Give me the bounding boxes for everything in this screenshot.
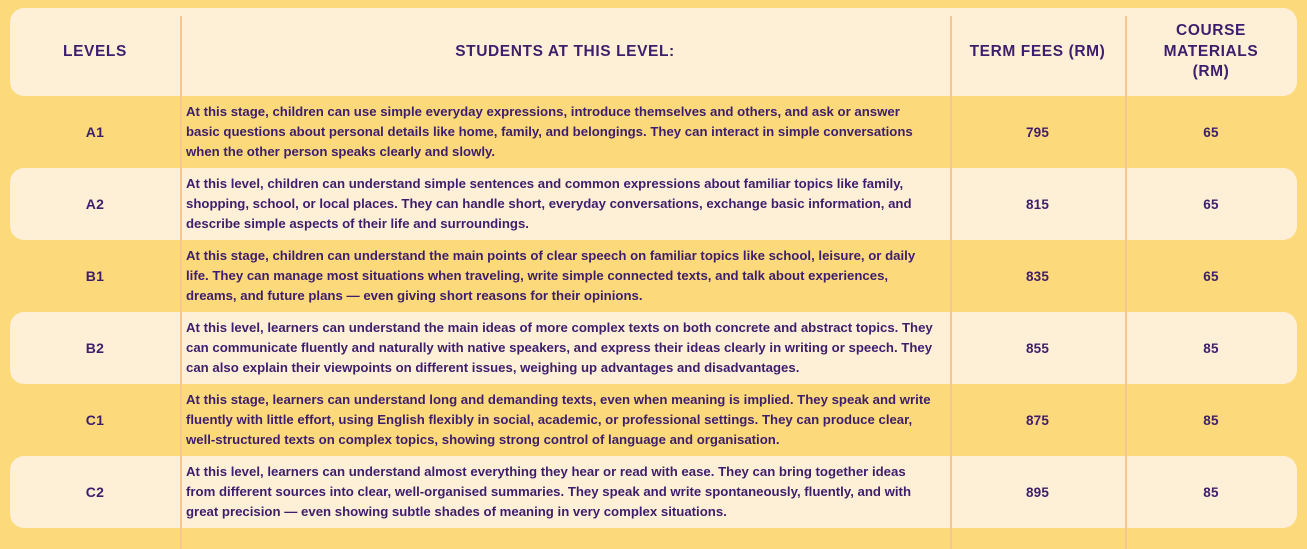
cell-term-fees: 835 xyxy=(950,240,1125,312)
column-header-term-fees: TERM FEES (RM) xyxy=(950,8,1125,96)
cell-term-fees: 855 xyxy=(950,312,1125,384)
table-row: C1 At this stage, learners can understan… xyxy=(10,384,1297,456)
table-header-row: LEVELS STUDENTS AT THIS LEVEL: TERM FEES… xyxy=(10,8,1297,96)
cell-description: At this stage, children can understand t… xyxy=(180,240,950,312)
cell-level: A1 xyxy=(10,96,180,168)
cell-level: A2 xyxy=(10,168,180,240)
cell-course-materials: 85 xyxy=(1125,312,1297,384)
cell-term-fees: 875 xyxy=(950,384,1125,456)
cell-description: At this stage, children can use simple e… xyxy=(180,96,950,168)
cell-description: At this level, learners can understand a… xyxy=(180,456,950,528)
cell-course-materials: 65 xyxy=(1125,168,1297,240)
cell-level: C1 xyxy=(10,384,180,456)
cell-course-materials: 65 xyxy=(1125,240,1297,312)
table-row: A2 At this level, children can understan… xyxy=(10,168,1297,240)
cell-description: At this level, learners can understand t… xyxy=(180,312,950,384)
cell-course-materials: 85 xyxy=(1125,384,1297,456)
cell-course-materials: 85 xyxy=(1125,456,1297,528)
table-row: A1 At this stage, children can use simpl… xyxy=(10,96,1297,168)
cell-level: C2 xyxy=(10,456,180,528)
cell-term-fees: 815 xyxy=(950,168,1125,240)
cefr-fee-table: LEVELS STUDENTS AT THIS LEVEL: TERM FEES… xyxy=(0,8,1307,549)
column-header-description: STUDENTS AT THIS LEVEL: xyxy=(180,8,950,96)
cell-level: B1 xyxy=(10,240,180,312)
table-row: B1 At this stage, children can understan… xyxy=(10,240,1297,312)
cell-description: At this stage, learners can understand l… xyxy=(180,384,950,456)
column-header-course-materials: COURSE MATERIALS (RM) xyxy=(1125,8,1297,96)
cell-description: At this level, children can understand s… xyxy=(180,168,950,240)
cell-term-fees: 795 xyxy=(950,96,1125,168)
cell-term-fees: 895 xyxy=(950,456,1125,528)
table-row: C2 At this level, learners can understan… xyxy=(10,456,1297,528)
column-header-levels: LEVELS xyxy=(10,8,180,96)
table-row: B2 At this level, learners can understan… xyxy=(10,312,1297,384)
cell-level: B2 xyxy=(10,312,180,384)
cell-course-materials: 65 xyxy=(1125,96,1297,168)
